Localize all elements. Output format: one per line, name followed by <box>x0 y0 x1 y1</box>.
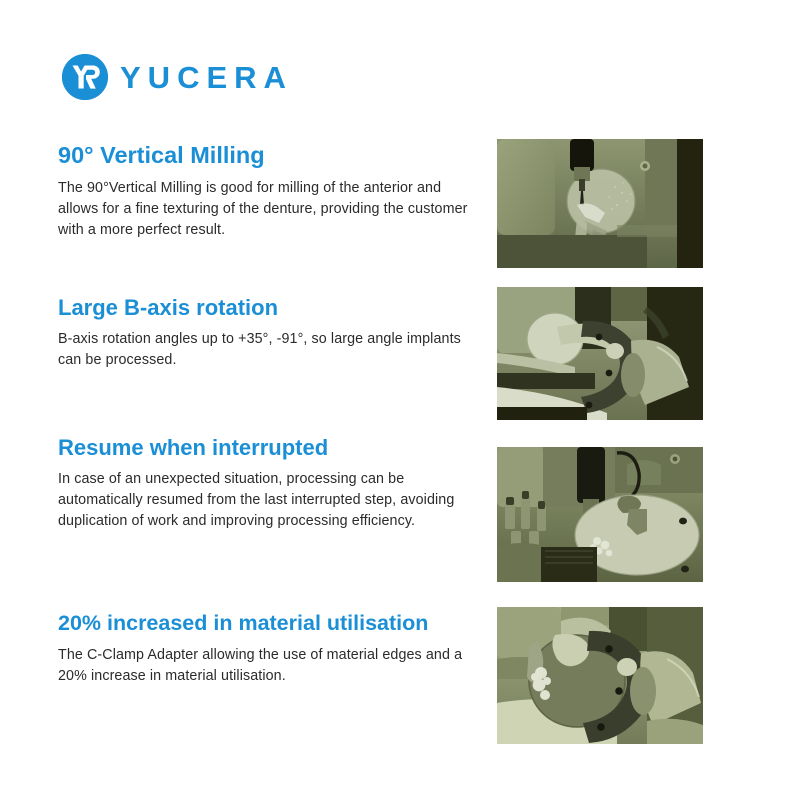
feature-title: 20% increased in material utilisation <box>58 611 478 636</box>
feature-sheet-page: YUCERA 90° Vertical Milling The 90°Verti… <box>0 0 800 800</box>
photo-resume-milling-disc <box>497 447 703 582</box>
feature-text-block: 90° Vertical Milling The 90°Vertical Mil… <box>58 142 478 241</box>
feature-body: The 90°Vertical Milling is good for mill… <box>58 178 478 241</box>
photo-b-axis-rotation-mechanism <box>497 287 703 420</box>
feature-text-block: 20% increased in material utilisation Th… <box>58 611 478 686</box>
feature-body: The C-Clamp Adapter allowing the use of … <box>58 645 478 687</box>
feature-text-block: Resume when interrupted In case of an un… <box>58 435 478 532</box>
photo-c-clamp-adapter-disc <box>497 607 703 744</box>
feature-text-block: Large B-axis rotation B-axis rotation an… <box>58 295 478 371</box>
feature-title: 90° Vertical Milling <box>58 142 478 169</box>
feature-body: In case of an unexpected situation, proc… <box>58 469 478 532</box>
photo-vertical-milling-spindle <box>497 139 703 268</box>
feature-body: B-axis rotation angles up to +35°, -91°,… <box>58 329 478 371</box>
feature-title: Resume when interrupted <box>58 435 478 460</box>
feature-title: Large B-axis rotation <box>58 295 478 320</box>
